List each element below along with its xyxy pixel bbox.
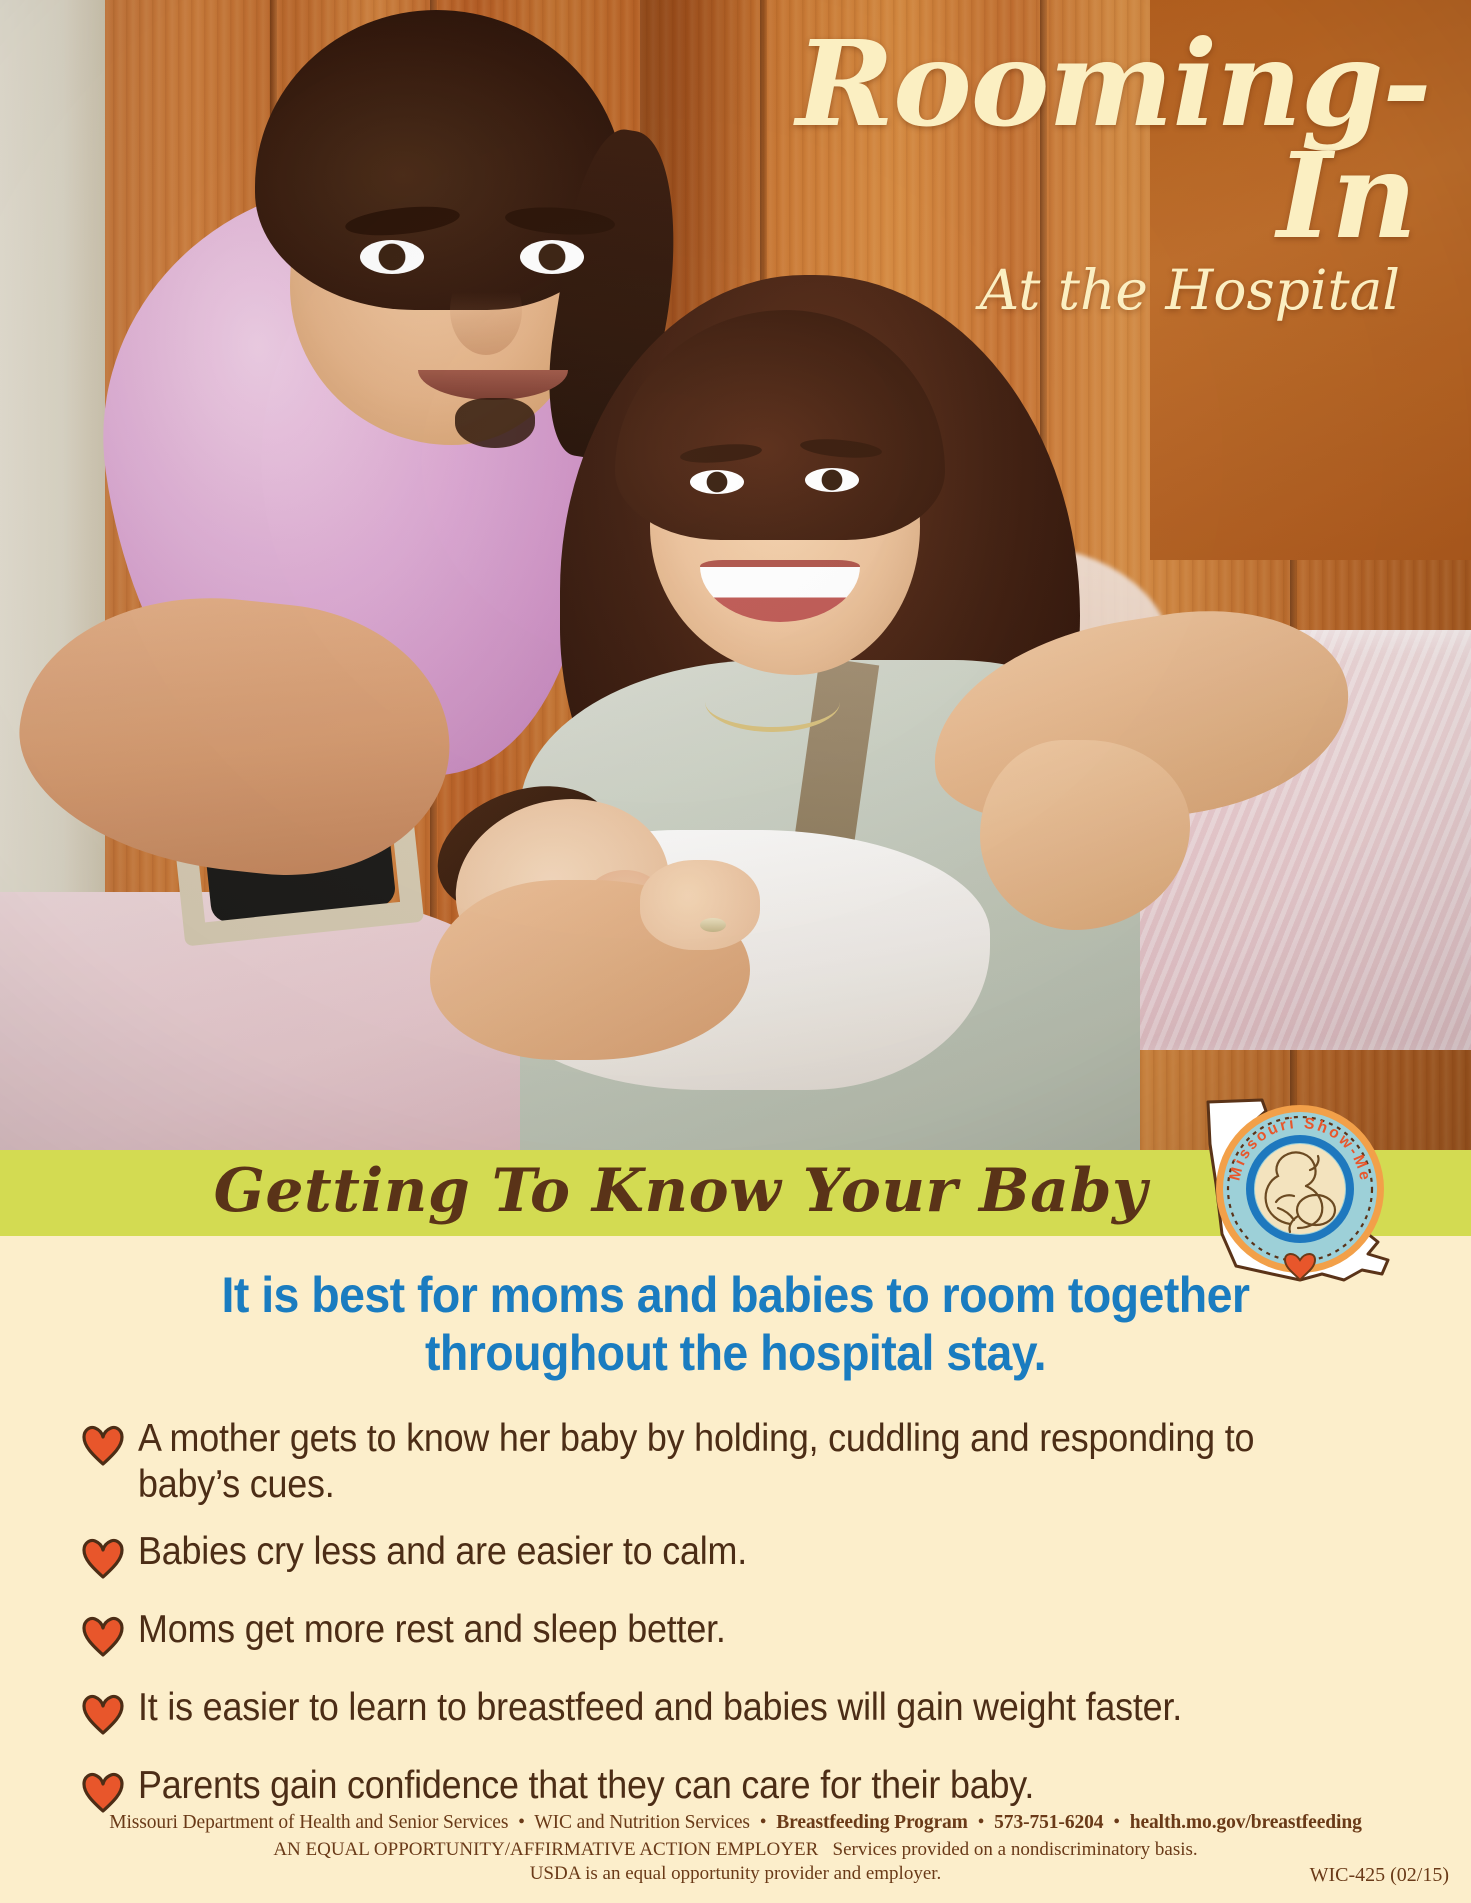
father-goatee — [455, 398, 535, 448]
mother-eye-left — [690, 470, 744, 494]
list-item-label: It is easier to learn to breastfeed and … — [138, 1685, 1182, 1731]
footer-nondiscrimination: Services provided on a nondiscriminatory… — [833, 1839, 1198, 1860]
list-item-label: A mother gets to know her baby by holdin… — [138, 1416, 1287, 1507]
footer-separator: • — [1108, 1812, 1125, 1833]
footer-eeo-line: AN EQUAL OPPORTUNITY/AFFIRMATIVE ACTION … — [0, 1839, 1471, 1861]
footer-website[interactable]: health.mo.gov/breastfeeding — [1130, 1812, 1362, 1833]
heart-icon — [80, 1691, 126, 1737]
footer-eeo-statement: AN EQUAL OPPORTUNITY/AFFIRMATIVE ACTION … — [273, 1839, 818, 1860]
content-area: It is best for moms and babies to room t… — [0, 1236, 1471, 1903]
footer: Missouri Department of Health and Senior… — [0, 1812, 1471, 1885]
father-eye-left — [360, 240, 424, 274]
headline-line-2: throughout the hospital stay. — [191, 1324, 1280, 1382]
list-item-label: Babies cry less and are easier to calm. — [138, 1529, 747, 1575]
baby-hands — [640, 860, 760, 950]
page-headline: It is best for moms and babies to room t… — [191, 1266, 1280, 1382]
heart-icon — [80, 1422, 126, 1468]
heart-icon — [80, 1769, 126, 1815]
father-nose — [450, 265, 522, 355]
footer-separator: • — [513, 1812, 530, 1833]
footer-division: WIC and Nutrition Services — [534, 1812, 750, 1833]
list-item: Parents gain confidence that they can ca… — [80, 1763, 1387, 1815]
footer-agency: Missouri Department of Health and Senior… — [109, 1812, 508, 1833]
footer-phone[interactable]: 573-751-6204 — [994, 1812, 1103, 1833]
heart-icon — [80, 1535, 126, 1581]
list-item: Babies cry less and are easier to calm. — [80, 1529, 1387, 1581]
footer-contact-line: Missouri Department of Health and Senior… — [0, 1812, 1471, 1834]
benefits-list: A mother gets to know her baby by holdin… — [80, 1416, 1387, 1815]
necklace — [705, 672, 840, 732]
poster-title-block: Rooming-In At the Hospital — [796, 28, 1416, 322]
page-subtitle: At the Hospital — [796, 258, 1416, 322]
badge-center — [1255, 1144, 1345, 1234]
list-item-label: Moms get more rest and sleep better. — [138, 1607, 726, 1653]
list-item: Moms get more rest and sleep better. — [80, 1607, 1387, 1659]
list-item-label: Parents gain confidence that they can ca… — [138, 1763, 1034, 1809]
section-banner-label: Getting To Know Your Baby — [214, 1156, 1148, 1226]
page-title: Rooming-In — [796, 28, 1416, 252]
father-eye-right — [520, 240, 584, 274]
wedding-ring — [700, 918, 726, 932]
footer-usda-line: USDA is an equal opportunity provider an… — [0, 1863, 1471, 1885]
footer-program: Breastfeeding Program — [776, 1812, 968, 1833]
list-item: A mother gets to know her baby by holdin… — [80, 1416, 1387, 1507]
heart-icon — [80, 1613, 126, 1659]
footer-separator: • — [973, 1812, 990, 1833]
form-number: WIC-425 (02/15) — [1310, 1864, 1449, 1887]
mother-eye-right — [805, 468, 859, 492]
list-item: It is easier to learn to breastfeed and … — [80, 1685, 1387, 1737]
missouri-show-me-5-hospital-badge: Missouri Show-Me 5 Hospital — [1192, 1084, 1402, 1294]
footer-separator: • — [755, 1812, 772, 1833]
headline-line-1: It is best for moms and babies to room t… — [191, 1266, 1280, 1324]
